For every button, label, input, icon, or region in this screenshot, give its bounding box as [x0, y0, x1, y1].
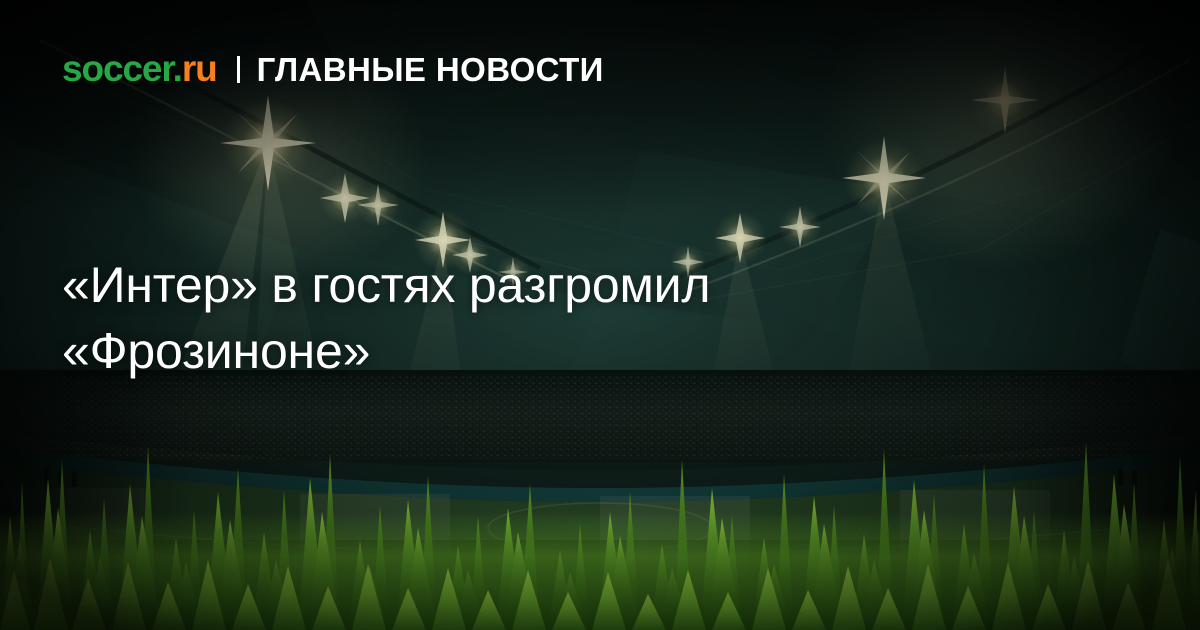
pitch-and-crowd	[0, 370, 1200, 630]
logo-text-tld: ru	[182, 48, 217, 89]
stadium-bowl	[0, 370, 1200, 630]
header-separator	[237, 56, 240, 83]
logo-text-main: soccer	[62, 48, 173, 89]
page-title: «Интер» в гостях разгромил «Фрозиноне»	[62, 252, 942, 384]
header: soccer.ru ГЛАВНЫЕ НОВОСТИ	[62, 50, 604, 87]
share-card: soccer.ru ГЛАВНЫЕ НОВОСТИ «Интер» в гост…	[0, 0, 1200, 630]
logo-text-dot: .	[173, 48, 182, 89]
site-logo[interactable]: soccer.ru	[62, 50, 217, 87]
header-title: ГЛАВНЫЕ НОВОСТИ	[257, 53, 604, 86]
